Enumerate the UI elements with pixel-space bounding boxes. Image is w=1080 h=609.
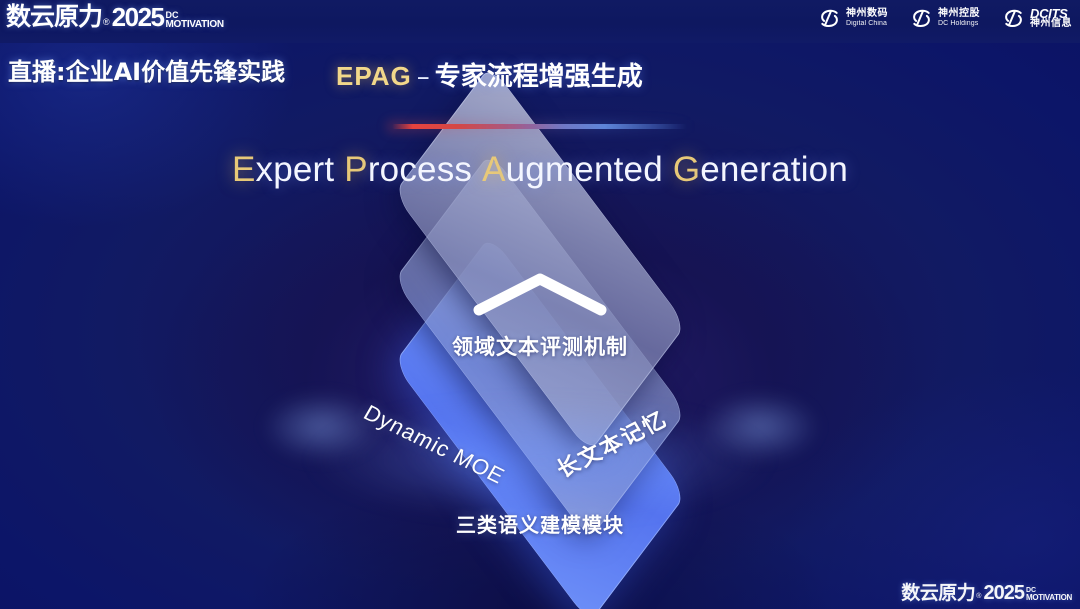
epag-acronym: EPAG [336,61,412,91]
swirl-logo-icon [1002,7,1025,30]
title-cap-g: G [673,150,700,189]
title-rest-augmented: ugmented [506,150,663,189]
brand-logo-registered-mark: ® [103,14,110,30]
title-cap-e: E [232,150,256,189]
brand-logo-motivation: MOTIVATION [166,20,224,29]
watermark-dc-motivation: DC MOTIVATION [1026,587,1072,602]
partner-logo-text: 神州数码 Digital China [846,9,888,29]
footer-watermark-logo: 数云原力 ® 2025 DC MOTIVATION [901,583,1072,603]
brand-logo-dc-motivation: DC MOTIVATION [166,11,224,29]
gradient-divider [392,124,687,129]
swirl-logo-icon [910,7,933,30]
watermark-chinese: 数云原力 [901,583,975,603]
stack-glow-left [262,392,382,462]
title-cap-a: A [482,150,506,189]
watermark-motivation: MOTIVATION [1026,594,1072,602]
partner-name-en: DCITS [1030,9,1072,19]
epag-chinese-subtitle: 专家流程增强生成 [435,62,643,92]
title-rest-expert: xpert [256,150,335,189]
partner-logo-text: DCITS 神州信息 [1030,9,1072,29]
stack-glow-right [700,392,820,462]
title-rest-process: rocess [368,150,472,189]
partner-name-cn: 神州信息 [1030,19,1072,29]
epag-headline: EPAG–专家流程增强生成 [336,56,643,93]
partner-logo-dcits: DCITS 神州信息 [1002,7,1072,30]
partner-logo-text: 神州控股 DC Holdings [938,9,980,29]
title-rest-generation: eneration [700,150,848,189]
page-title: Expert Process Augmented Generation [0,150,1080,190]
header-bar: 数云原力 ® 2025 DC MOTIVATION [0,0,1080,43]
partner-logo-dc-holdings: 神州控股 DC Holdings [910,7,980,30]
swirl-logo-icon [818,7,841,30]
partner-name-cn: 神州控股 [938,9,980,19]
title-cap-p: P [344,150,368,189]
watermark-year: 2025 [983,583,1024,603]
partner-name-en: Digital China [846,19,888,29]
partner-name-cn: 神州数码 [846,9,888,19]
brand-logo-chinese: 数云原力 [6,4,102,30]
chevron-up-icon [473,272,607,321]
stack-label-bottom: 三类语义建模模块 [456,509,624,538]
epag-separator: – [412,62,435,92]
slide-canvas: 数云原力 ® 2025 DC MOTIVATION [0,0,1080,609]
partner-logo-group: 神州数码 Digital China 神州控股 DC H [818,7,1072,30]
partner-name-en: DC Holdings [938,19,980,29]
stack-label-top: 领域文本评测机制 [452,331,628,361]
brand-logo-year: 2025 [112,4,164,30]
brand-logo: 数云原力 ® 2025 DC MOTIVATION [6,4,224,30]
watermark-registered-mark: ® [976,591,981,603]
partner-logo-digital-china: 神州数码 Digital China [818,7,888,30]
live-stream-title: 直播:企业AI价值先锋实践 [8,52,285,87]
